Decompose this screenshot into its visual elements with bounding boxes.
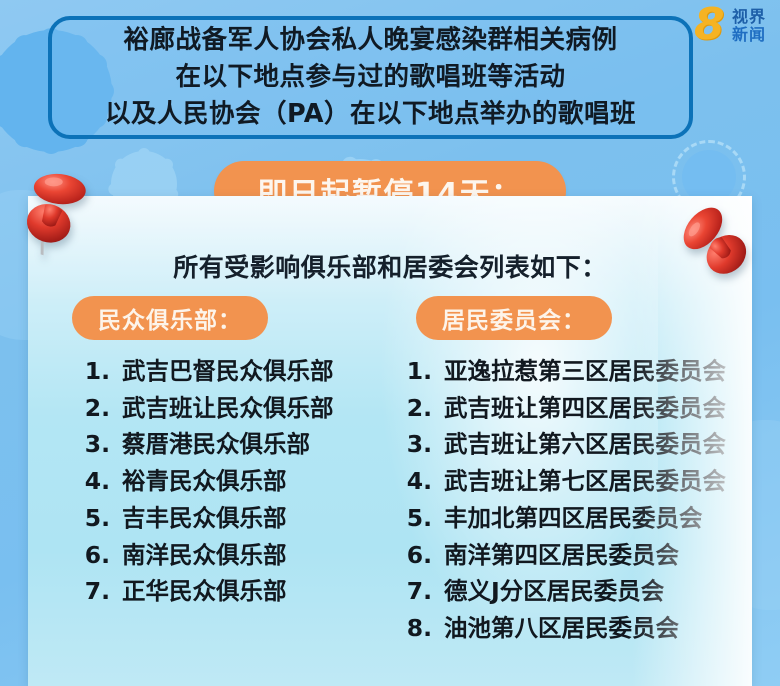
pushpin-icon — [14, 162, 92, 258]
community-clubs-heading: 民众俱乐部： — [72, 296, 268, 340]
brand-logo: 8 视界 新闻 — [686, 2, 772, 64]
infographic-poster: 裕廊战备军人协会私人晚宴感染群相关病例 在以下地点参与过的歌唱班等活动 以及人民… — [0, 0, 780, 686]
logo-word-line-1: 视界 — [732, 8, 766, 26]
list-item-label: 正华民众俱乐部 — [122, 574, 287, 610]
list-item-number: 8. — [394, 611, 432, 647]
logo-word-line-2: 新闻 — [732, 26, 766, 44]
list-item-number: 4. — [394, 464, 432, 500]
list-item-number: 3. — [394, 427, 432, 463]
list-item: 7. 正华民众俱乐部 — [44, 574, 376, 610]
list-item: 6. 南洋第四区居民委员会 — [386, 538, 752, 574]
list-item-label: 吉丰民众俱乐部 — [122, 501, 287, 537]
list-item-number: 7. — [394, 574, 432, 610]
list-item-label: 武吉班让第四区居民委员会 — [444, 391, 726, 427]
list-item: 8. 油池第八区居民委员会 — [386, 611, 752, 647]
list-item-label: 南洋第四区居民委员会 — [444, 538, 679, 574]
title-line-1: 裕廊战备军人协会私人晚宴感染群相关病例 — [123, 23, 617, 58]
list-item: 5. 吉丰民众俱乐部 — [44, 501, 376, 537]
logo-mark-icon: 8 — [688, 2, 734, 60]
list-item: 4. 武吉班让第七区居民委员会 — [386, 464, 752, 500]
list-item: 4. 裕青民众俱乐部 — [44, 464, 376, 500]
list-item-label: 武吉班让第七区居民委员会 — [444, 464, 726, 500]
logo-wordmark: 视界 新闻 — [732, 8, 766, 44]
list-item: 3. 蔡厝港民众俱乐部 — [44, 427, 376, 463]
list-item-number: 1. — [394, 354, 432, 390]
list-item-label: 丰加北第四区居民委员会 — [444, 501, 703, 537]
list-item-label: 德义J分区居民委员会 — [444, 574, 664, 610]
list-item-label: 武吉班让民众俱乐部 — [122, 391, 334, 427]
title-line-2: 在以下地点参与过的歌唱班等活动 — [175, 60, 565, 95]
list-item-number: 1. — [72, 354, 110, 390]
list-item: 5. 丰加北第四区居民委员会 — [386, 501, 752, 537]
card-subtitle: 所有受影响俱乐部和居委会列表如下： — [28, 248, 752, 284]
community-clubs-list: 1. 武吉巴督民众俱乐部 2. 武吉班让民众俱乐部 3. 蔡厝港民众俱乐部 4.… — [44, 354, 376, 610]
content-card: 所有受影响俱乐部和居委会列表如下： 民众俱乐部： 1. 武吉巴督民众俱乐部 2.… — [28, 196, 752, 686]
column-community-clubs: 民众俱乐部： 1. 武吉巴督民众俱乐部 2. 武吉班让民众俱乐部 3. 蔡厝港民… — [28, 296, 376, 648]
list-item-number: 5. — [394, 501, 432, 537]
list-item-number: 2. — [394, 391, 432, 427]
list-item-label: 南洋民众俱乐部 — [122, 538, 287, 574]
list-item: 7. 德义J分区居民委员会 — [386, 574, 752, 610]
column-residents-committees: 居民委员会： 1. 亚逸拉惹第三区居民委员会 2. 武吉班让第四区居民委员会 3… — [376, 296, 752, 648]
list-item-number: 6. — [72, 538, 110, 574]
list-item: 2. 武吉班让第四区居民委员会 — [386, 391, 752, 427]
list-item-label: 武吉班让第六区居民委员会 — [444, 427, 726, 463]
pushpin-icon — [678, 196, 756, 292]
list-item: 3. 武吉班让第六区居民委员会 — [386, 427, 752, 463]
logo-eight-glyph: 8 — [694, 3, 725, 47]
title-line-3: 以及人民协会（PA）在以下地点举办的歌唱班 — [105, 97, 636, 132]
residents-committees-heading: 居民委员会： — [416, 296, 612, 340]
list-item-number: 7. — [72, 574, 110, 610]
list-item: 1. 武吉巴督民众俱乐部 — [44, 354, 376, 390]
list-item: 1. 亚逸拉惹第三区居民委员会 — [386, 354, 752, 390]
list-item-label: 亚逸拉惹第三区居民委员会 — [444, 354, 726, 390]
list-item-number: 5. — [72, 501, 110, 537]
list-item: 2. 武吉班让民众俱乐部 — [44, 391, 376, 427]
residents-committees-list: 1. 亚逸拉惹第三区居民委员会 2. 武吉班让第四区居民委员会 3. 武吉班让第… — [386, 354, 752, 647]
list-item-number: 2. — [72, 391, 110, 427]
list-item-label: 武吉巴督民众俱乐部 — [122, 354, 334, 390]
lists-container: 民众俱乐部： 1. 武吉巴督民众俱乐部 2. 武吉班让民众俱乐部 3. 蔡厝港民… — [28, 296, 752, 648]
list-item-number: 4. — [72, 464, 110, 500]
list-item-number: 6. — [394, 538, 432, 574]
list-item-label: 裕青民众俱乐部 — [122, 464, 287, 500]
list-item-label: 蔡厝港民众俱乐部 — [122, 427, 310, 463]
list-item-number: 3. — [72, 427, 110, 463]
list-item: 6. 南洋民众俱乐部 — [44, 538, 376, 574]
list-item-label: 油池第八区居民委员会 — [444, 611, 679, 647]
page-title: 裕廊战备军人协会私人晚宴感染群相关病例 在以下地点参与过的歌唱班等活动 以及人民… — [52, 20, 689, 135]
